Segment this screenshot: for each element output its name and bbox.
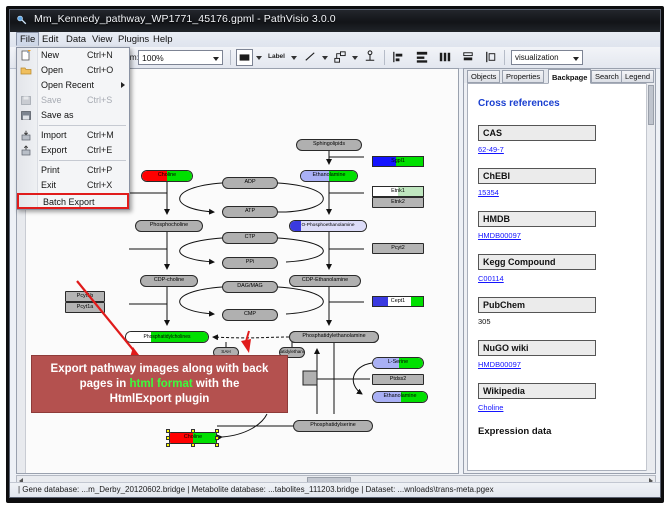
tab-backpage[interactable]: Backpage (548, 69, 591, 84)
menu-item-label: Exit (41, 178, 56, 193)
pathway-node-o-phosphoethanolamine[interactable]: O-Phosphoethanolamine (289, 220, 367, 232)
pathway-node-ethanolamine-top[interactable]: Ethanolamine (300, 170, 358, 182)
screenshot-root: Mm_Kennedy_pathway_WP1771_45176.gpml - P… (0, 0, 670, 509)
menu-item-open-recent[interactable]: Open Recent (17, 78, 129, 93)
tab-legend[interactable]: Legend (621, 70, 654, 83)
connector-icon (332, 49, 348, 65)
menu-item-label: New (41, 48, 59, 63)
menu-item-label: Open (41, 63, 63, 78)
selection-handle-s[interactable] (191, 443, 195, 447)
menu-item-accel: Ctrl+M (87, 128, 114, 143)
pathway-node-choline-top[interactable]: Choline (141, 170, 193, 182)
shape-tool-button[interactable] (236, 49, 253, 66)
pathvisio-window: Mm_Kennedy_pathway_WP1771_45176.gpml - P… (9, 9, 661, 498)
shape-tool-dropdown[interactable] (256, 56, 262, 60)
zoom-combobox[interactable]: 100% (138, 50, 223, 65)
menu-item-label: Batch Export (43, 196, 95, 208)
menu-item-exit[interactable]: Exit Ctrl+X (17, 178, 129, 193)
menu-plugins[interactable]: Plugins (115, 33, 152, 46)
gene-node-pcyt1a[interactable]: Pcyt1a (65, 302, 105, 313)
label-tool-button[interactable]: Label (268, 53, 285, 60)
title-bar: Mm_Kennedy_pathway_WP1771_45176.gpml - P… (10, 10, 660, 33)
chevron-down-icon (573, 57, 579, 61)
new-document-icon (20, 50, 32, 61)
line-tool-button[interactable] (302, 49, 318, 70)
pathway-node-phosphatidylcholines[interactable]: Phosphatidylcholines (125, 331, 209, 343)
menu-item-save-as[interactable]: Save as (17, 108, 129, 123)
line-tool-dropdown[interactable] (322, 56, 328, 60)
group-icon (483, 49, 499, 65)
pathway-node-label: O-Phosphoethanolamine (301, 224, 354, 229)
align-center-button[interactable] (414, 49, 430, 70)
backpage-scrollbar[interactable] (646, 83, 655, 471)
menu-separator-1 (39, 125, 126, 126)
selection-handle-w[interactable] (166, 436, 170, 440)
pathvisio-icon (16, 14, 29, 27)
distribute-icon (437, 49, 453, 65)
menu-item-batch-export[interactable]: Batch Export (17, 193, 129, 209)
selection-handle-ne[interactable] (215, 429, 219, 433)
selection-handle-sw[interactable] (166, 443, 170, 447)
pathway-node-ethanolamine-bottom[interactable]: Ethanolamine (372, 391, 428, 403)
backpage-section-wikipedia: Wikipedia (478, 383, 596, 399)
menu-item-save: Save Ctrl+S (17, 93, 129, 108)
backpage-expression-heading: Expression data (478, 426, 647, 437)
pathway-node-atp[interactable]: ATP (222, 206, 278, 218)
side-panel: Objects Properties Backpage Search Legen… (463, 68, 656, 474)
menu-item-export[interactable]: Export Ctrl+E (17, 143, 129, 158)
cept1-blue-half (373, 297, 388, 306)
status-bar: | Gene database: ...m_Derby_20120602.bri… (10, 482, 660, 497)
distribute-button[interactable] (437, 49, 453, 70)
backpage-heading: Cross references (478, 98, 647, 109)
visualization-combobox[interactable]: visualization (511, 50, 583, 65)
pathway-node-label: Phosphatidylcholines (144, 335, 191, 340)
group-button[interactable] (483, 49, 499, 70)
annotation-callout: Export pathway images along with back pa… (31, 355, 288, 413)
menu-item-label: Print (41, 163, 60, 178)
line-icon (302, 49, 318, 65)
import-icon (20, 130, 32, 141)
callout-line-2-a: pages in (80, 378, 130, 390)
gene-node-etnk2[interactable]: Etnk2 (372, 197, 424, 208)
gene-node-cept1[interactable]: Cept1 (372, 296, 424, 307)
side-panel-tabs: Objects Properties Backpage Search Legen… (464, 69, 655, 83)
gene-node-ptdss2[interactable]: Ptdss2 (372, 374, 424, 385)
align-center-icon (414, 49, 430, 65)
backpage-section-pubchem: PubChem (478, 297, 596, 313)
connector-tool-button[interactable] (332, 49, 348, 70)
cept1-green-half (411, 297, 424, 306)
shape-icon (237, 50, 252, 65)
menu-item-open[interactable]: Open Ctrl+O (17, 63, 129, 78)
pathway-node-label: Choline (158, 173, 176, 178)
menu-item-accel: Ctrl+E (87, 143, 112, 158)
menu-bar: File Edit Data View Plugins Help (10, 32, 660, 48)
menu-item-label: Import (41, 128, 67, 143)
pathway-node-ctp[interactable]: CTP (222, 232, 278, 244)
toolbar-separator-2 (230, 50, 231, 65)
pathway-node-cmp[interactable]: CMP (222, 309, 278, 321)
pathway-node-dag-mag[interactable]: DAG/MAG (222, 281, 278, 293)
menu-edit[interactable]: Edit (39, 33, 61, 46)
menu-item-import[interactable]: Import Ctrl+M (17, 128, 129, 143)
menu-file[interactable]: File (16, 32, 39, 46)
tab-objects[interactable]: Objects (467, 70, 500, 83)
gene-node-label: Cept1 (391, 299, 405, 304)
menu-item-accel: Ctrl+S (87, 93, 112, 108)
connector-tool-dropdown[interactable] (352, 56, 358, 60)
menu-item-label: Save as (41, 108, 74, 123)
submenu-arrow-icon (121, 82, 125, 88)
selection-handle-se[interactable] (215, 443, 219, 447)
align-left-button[interactable] (391, 49, 407, 70)
backpage-link-kegg[interactable]: C00114 (478, 274, 647, 283)
anchor-tool-button[interactable] (362, 49, 378, 70)
backpage-link-chebi[interactable]: 15354 (478, 188, 647, 197)
callout-line-1: Export pathway images along with back (51, 363, 269, 375)
scrollbar-thumb[interactable] (648, 85, 654, 125)
pathway-node-pe-label[interactable]: Phosphatidylethanolamine (289, 331, 379, 343)
menu-item-new[interactable]: New Ctrl+N (17, 48, 129, 63)
menu-item-label: Save (41, 93, 62, 108)
pathway-node-ppi[interactable]: PPi (222, 257, 278, 269)
backpage-link-wikipedia[interactable]: Choline (478, 403, 647, 412)
toolbar-separator-4 (504, 50, 505, 65)
pathway-node-label: Ethanolamine (313, 173, 346, 178)
menu-view[interactable]: View (89, 33, 115, 46)
zoom-value: 100% (142, 53, 164, 63)
menu-item-label: Export (41, 143, 67, 158)
pathway-node-adp[interactable]: ADP (222, 177, 278, 189)
toolbar-separator-3 (384, 50, 385, 65)
backpage-value-pubchem: 305 (478, 317, 647, 326)
pathway-node-l-serine[interactable]: L-Serine (372, 357, 424, 369)
selection-handle-nw[interactable] (166, 429, 170, 433)
callout-highlight: html format (129, 378, 192, 390)
callout-line-3: HtmlExport plugin (110, 393, 210, 405)
menu-help[interactable]: Help (150, 33, 176, 46)
backpage-content: Cross references CAS 62-49-7 ChEBI 15354… (467, 83, 648, 471)
pathway-node-sphingolipids[interactable]: Sphingolipids (296, 139, 362, 151)
pathway-node-label: L-Serine (388, 360, 408, 365)
gene-node-pcyt1b[interactable]: Pcyt1b (65, 291, 105, 302)
backpage-link-hmdb[interactable]: HMDB00097 (478, 231, 647, 240)
gene-node-etnk1[interactable]: Etnk1 (372, 186, 424, 197)
tab-search[interactable]: Search (591, 70, 623, 83)
backpage-link-nugo[interactable]: HMDB00097 (478, 360, 647, 369)
label-tool-dropdown[interactable] (291, 56, 297, 60)
backpage-link-cas[interactable]: 62-49-7 (478, 145, 647, 154)
gene-node-pcyt2[interactable]: Pcyt2 (372, 243, 424, 254)
stack-icon (460, 49, 476, 65)
pathway-node-label: Choline (184, 435, 202, 440)
menu-item-label: Open Recent (41, 78, 94, 93)
gene-node-label: Sgpl1 (391, 159, 405, 164)
align-left-icon (391, 49, 407, 65)
selection-handle-n[interactable] (191, 429, 195, 433)
pathway-node-phosphatidylserine[interactable]: Phosphatidylserine (293, 420, 373, 432)
backpage-section-nugo: NuGO wiki (478, 340, 596, 356)
pathway-node-label: Ethanolamine (384, 394, 417, 399)
menu-item-accel: Ctrl+P (87, 163, 112, 178)
file-menu-dropdown[interactable]: New Ctrl+N Open Ctrl+O Open Recent Sa (16, 47, 130, 210)
gene-node-sgpl1[interactable]: Sgpl1 (372, 156, 424, 167)
callout-line-2-b: with the (193, 378, 240, 390)
open-folder-icon (20, 65, 32, 76)
menu-item-accel: Ctrl+N (87, 48, 113, 63)
menu-item-accel: Ctrl+O (87, 63, 113, 78)
selection-handle-e[interactable] (215, 436, 219, 440)
pathway-node-cdp-choline[interactable]: CDP-choline (140, 275, 198, 287)
backpage-section-cas: CAS (478, 125, 596, 141)
anchor-icon (362, 49, 378, 65)
ope-blue-half (290, 221, 301, 231)
save-as-icon (20, 110, 32, 121)
backpage-section-kegg: Kegg Compound (478, 254, 596, 270)
stack-button[interactable] (460, 49, 476, 70)
menu-item-accel: Ctrl+X (87, 178, 112, 193)
backpage-section-chebi: ChEBI (478, 168, 596, 184)
visualization-value: visualization (515, 53, 559, 62)
export-icon (20, 145, 32, 156)
status-text: | Gene database: ...m_Derby_20120602.bri… (18, 485, 494, 494)
menu-separator-2 (39, 160, 126, 161)
pathway-node-cdp-ethanolamine[interactable]: CDP-Ethanolamine (289, 275, 361, 287)
gene-node-label: Etnk1 (391, 189, 405, 194)
window-title: Mm_Kennedy_pathway_WP1771_45176.gpml - P… (34, 13, 336, 25)
tab-properties[interactable]: Properties (502, 70, 544, 83)
menu-data[interactable]: Data (63, 33, 89, 46)
backpage-section-hmdb: HMDB (478, 211, 596, 227)
menu-item-print[interactable]: Print Ctrl+P (17, 163, 129, 178)
save-disk-icon (20, 95, 32, 106)
pathway-node-phosphocholine[interactable]: Phosphocholine (135, 220, 203, 232)
chevron-down-icon (213, 57, 219, 61)
